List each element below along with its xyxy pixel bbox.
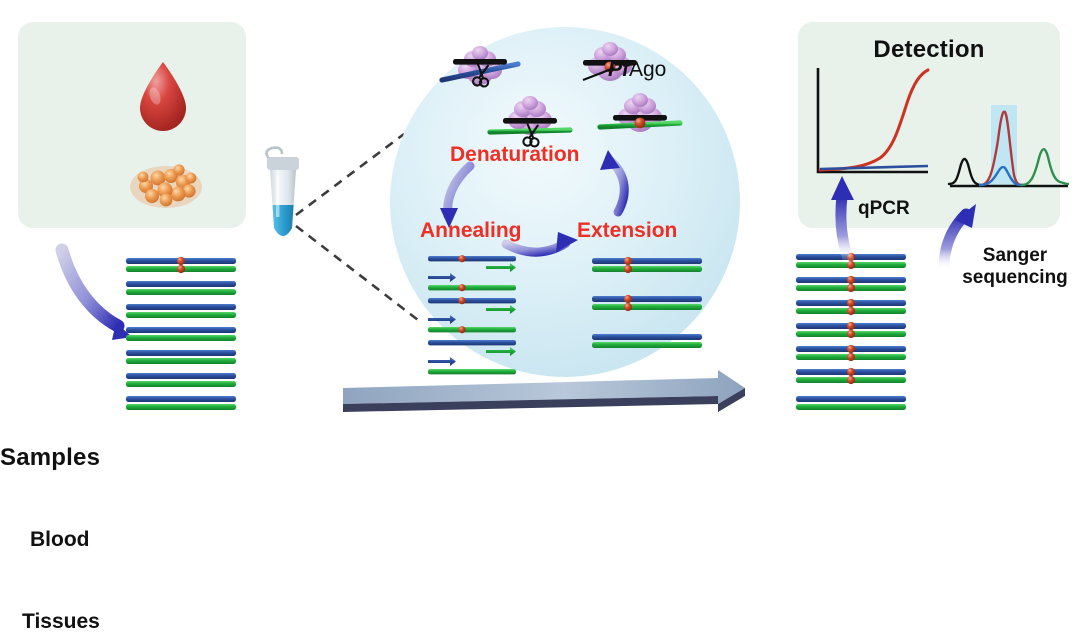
input-duplex-6 [126,373,236,387]
sample-label-tissues: Tissues [22,610,100,634]
cycle-label-extension: Extension [577,219,677,243]
sample-label-blood: Blood [30,528,89,552]
workflow-progress-arrow [343,370,745,412]
output-duplex-3 [796,299,906,315]
output-duplex-4 [796,322,906,338]
samples-panel-bg [18,22,246,228]
output-dna-stack [796,253,906,410]
input-duplex-4 [126,327,236,341]
input-duplex-7 [126,396,236,410]
workflow-figure: Samples Blood Tissues Detection qPCR San… [0,0,1080,432]
output-duplex-6 [796,368,906,384]
output-duplex-2 [796,276,906,292]
detection-panel: Detection [798,22,1060,228]
enzyme-label-genus: Pf [608,58,629,81]
input-dna-stack [126,257,236,410]
pcr-tube [266,148,299,236]
cycle-label-denaturation: Denaturation [450,143,580,167]
cycle-label-annealing: Annealing [420,219,522,243]
sanger-label-line1: Sanger [983,245,1047,266]
input-duplex-3 [126,304,236,318]
output-duplex-5 [796,345,906,361]
method-label-sanger: Sanger sequencing [955,245,1075,289]
input-duplex-2 [126,281,236,295]
samples-to-dna-arrow [62,250,132,340]
enzyme-label-protein: Ago [629,58,666,81]
method-label-qpcr: qPCR [858,198,910,220]
input-duplex-5 [126,350,236,364]
sanger-label-line2: sequencing [962,267,1068,288]
input-duplex-1 [126,257,236,273]
output-duplex-7 [796,396,906,410]
enzyme-label-pfago: PfAgo [608,58,666,82]
page-title-detection: Detection [798,36,1060,64]
